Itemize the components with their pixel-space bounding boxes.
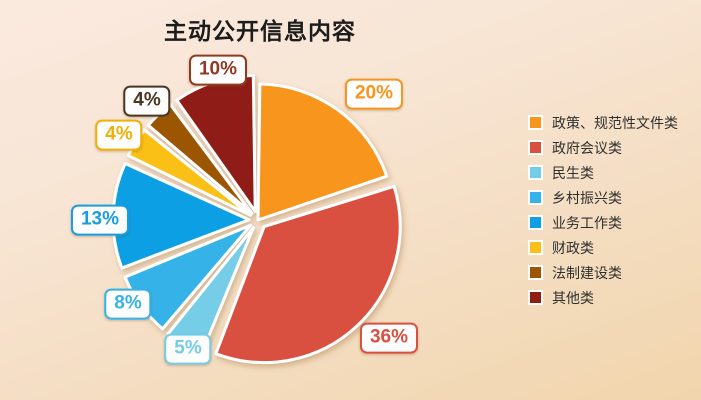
legend-item-label: 财政类: [552, 238, 594, 258]
pie-data-label: 20%: [345, 79, 403, 110]
legend-item-label: 民生类: [552, 163, 594, 183]
pie-data-label: 36%: [360, 323, 418, 354]
legend-swatch-icon: [528, 190, 543, 205]
legend-item[interactable]: 财政类: [528, 235, 698, 260]
legend-swatch-icon: [528, 290, 543, 305]
legend-swatch-icon: [528, 140, 543, 155]
legend-swatch-icon: [528, 265, 543, 280]
legend-swatch-icon: [528, 215, 543, 230]
legend-item[interactable]: 法制建设类: [528, 260, 698, 285]
legend-item-label: 其他类: [552, 288, 594, 308]
legend-item[interactable]: 业务工作类: [528, 210, 698, 235]
pie-data-label: 5%: [164, 334, 211, 365]
pie-plot-area: 20%36%5%8%13%4%4%10%: [0, 40, 520, 390]
legend-swatch-icon: [528, 115, 543, 130]
legend-item[interactable]: 政府会议类: [528, 135, 698, 160]
pie-data-label: 10%: [189, 55, 247, 86]
legend-item[interactable]: 其他类: [528, 285, 698, 310]
legend-swatch-icon: [528, 165, 543, 180]
legend-item-label: 乡村振兴类: [552, 188, 622, 208]
pie-data-label: 4%: [123, 86, 170, 117]
legend-item-label: 政策、规范性文件类: [552, 113, 678, 133]
pie-data-label: 8%: [104, 289, 151, 320]
legend-item[interactable]: 民生类: [528, 160, 698, 185]
legend-item-label: 法制建设类: [552, 263, 622, 283]
legend-item-label: 业务工作类: [552, 213, 622, 233]
legend-item-label: 政府会议类: [552, 138, 622, 158]
legend-swatch-icon: [528, 240, 543, 255]
legend-item[interactable]: 乡村振兴类: [528, 185, 698, 210]
chart-legend: 政策、规范性文件类政府会议类民生类乡村振兴类业务工作类财政类法制建设类其他类: [528, 110, 698, 310]
pie-slice-group: [113, 75, 400, 362]
pie-data-label: 13%: [71, 205, 129, 236]
pie-chart-panel: 主动公开信息内容 20%36%5%8%13%4%4%10% 政策、规范性文件类政…: [0, 0, 701, 400]
pie-data-label: 4%: [95, 120, 142, 151]
legend-item[interactable]: 政策、规范性文件类: [528, 110, 698, 135]
